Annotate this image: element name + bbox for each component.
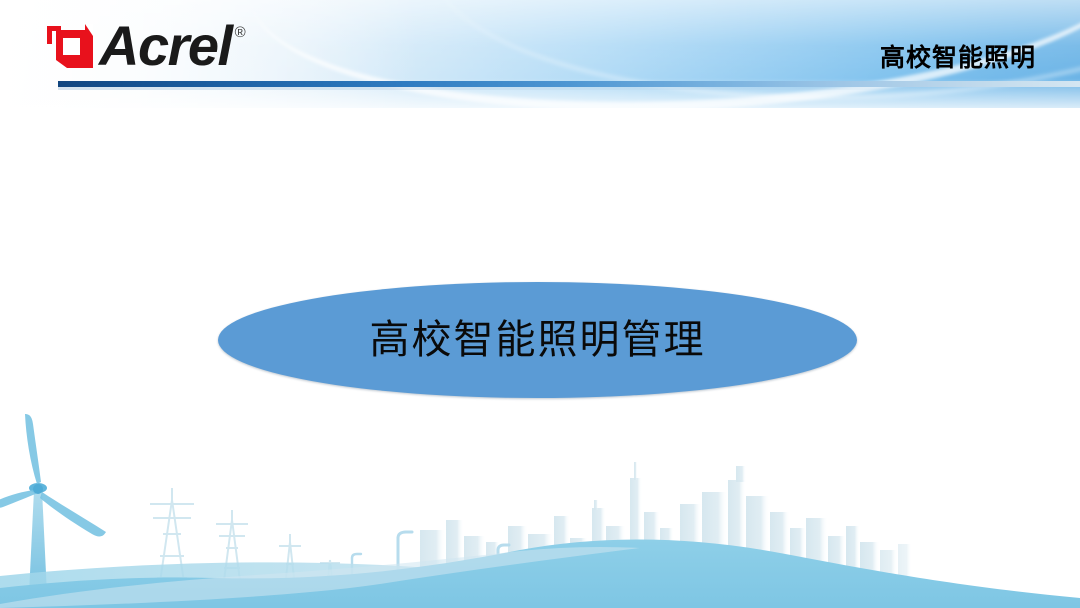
acrel-square-logo-icon	[45, 22, 97, 72]
main-title-ellipse: 高校智能照明管理	[218, 282, 857, 398]
slide-body: 高校智能照明管理	[0, 108, 1080, 608]
footer-scenery-art	[0, 408, 1080, 608]
registered-trademark-icon: ®	[235, 24, 246, 41]
slide-root: Acrel ® 高校智能照明 高校智能照明管理	[0, 0, 1080, 608]
header-accent-rule-shadow	[58, 87, 1080, 90]
brand-logo[interactable]: Acrel ®	[45, 18, 246, 74]
logo-wordmark: Acrel	[99, 18, 232, 74]
page-title: 高校智能照明	[880, 43, 1036, 73]
wind-turbine-icon	[0, 414, 106, 594]
main-title-text: 高校智能照明管理	[370, 318, 706, 362]
